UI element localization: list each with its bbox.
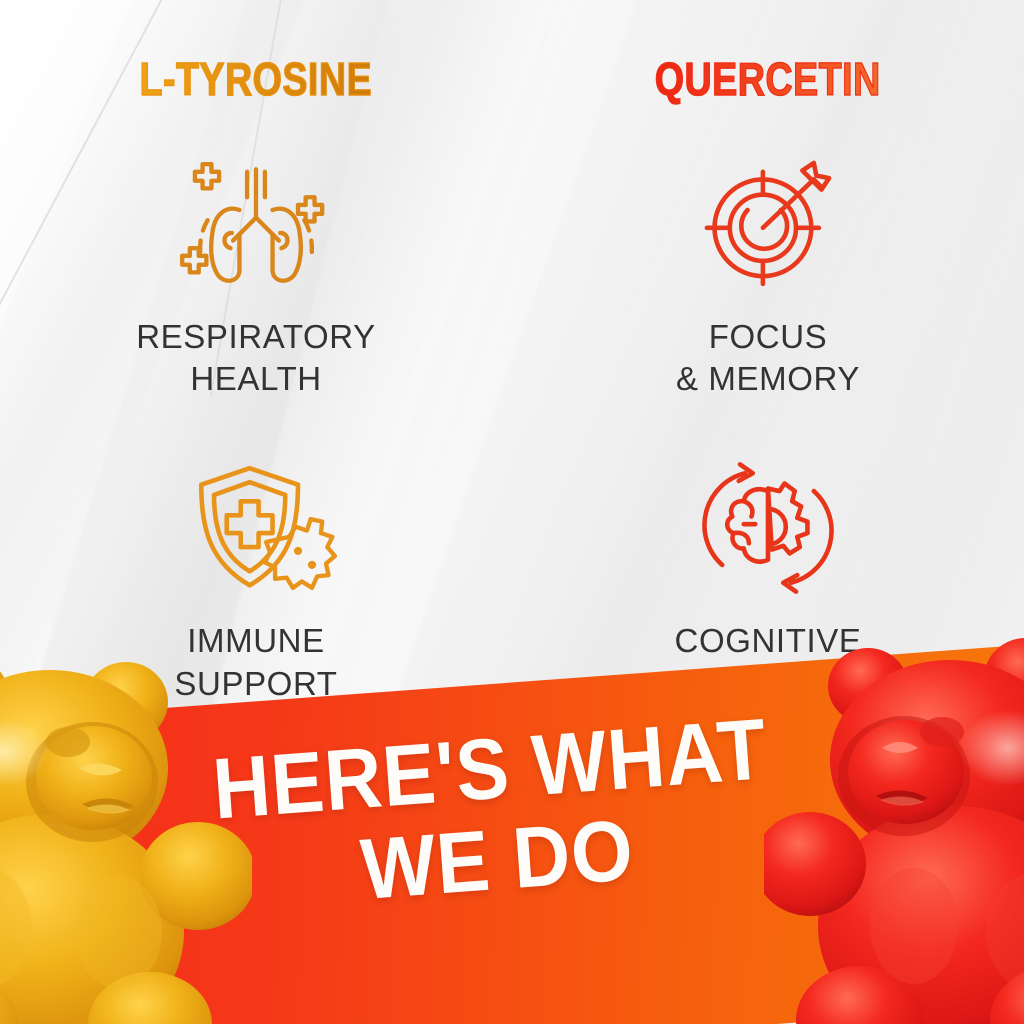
gummy-bear-yellow xyxy=(0,632,252,1024)
infographic-canvas: L-TYROSINE xyxy=(0,0,1024,1024)
gummy-bear-red xyxy=(764,620,1024,1024)
benefit-label: FOCUS & MEMORY xyxy=(676,316,860,400)
target-arrow-icon xyxy=(688,154,848,294)
shield-virus-icon xyxy=(176,458,336,598)
brain-gear-refresh-icon xyxy=(688,458,848,598)
benefit-focus-memory: FOCUS & MEMORY xyxy=(676,154,860,400)
lungs-icon xyxy=(176,154,336,294)
ingredient-title-l-tyrosine: L-TYROSINE xyxy=(140,52,373,106)
headline-line-2: WE DO xyxy=(358,809,636,911)
ingredient-title-quercetin: QUERCETIN xyxy=(655,52,881,106)
benefit-respiratory-health: RESPIRATORY HEALTH xyxy=(136,154,376,400)
benefit-label: RESPIRATORY HEALTH xyxy=(136,316,376,400)
